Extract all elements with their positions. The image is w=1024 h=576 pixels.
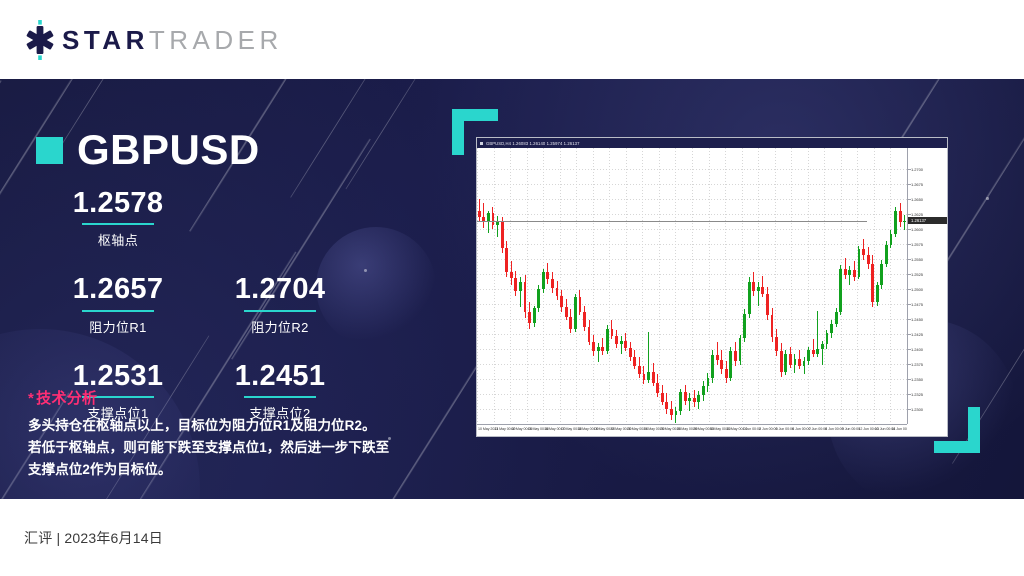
candlestick-body bbox=[514, 278, 517, 291]
price-axis-label: 1.2300 bbox=[911, 407, 923, 412]
date-axis-label: 5 Jun 00:00 bbox=[776, 427, 794, 431]
candlestick bbox=[734, 148, 737, 424]
candlestick-body bbox=[592, 342, 595, 352]
candlestick bbox=[748, 148, 751, 424]
page-title: GBPUSD bbox=[77, 129, 260, 171]
candlestick bbox=[684, 148, 687, 424]
candlestick bbox=[780, 148, 783, 424]
candlestick-wick bbox=[758, 282, 759, 306]
level-pivot-label: 枢轴点 bbox=[48, 230, 188, 249]
price-axis-tick bbox=[908, 229, 911, 230]
candlestick-body bbox=[816, 349, 819, 354]
candlestick bbox=[858, 148, 861, 424]
price-axis-label: 1.2350 bbox=[911, 377, 923, 382]
candlestick bbox=[679, 148, 682, 424]
candlestick bbox=[839, 148, 842, 424]
candlestick bbox=[803, 148, 806, 424]
candlestick-body bbox=[752, 282, 755, 292]
candlestick bbox=[743, 148, 746, 424]
candlestick bbox=[487, 148, 490, 424]
price-axis-label: 1.2650 bbox=[911, 197, 923, 202]
price-axis-label: 1.2425 bbox=[911, 332, 923, 337]
candlestick bbox=[556, 148, 559, 424]
candlestick bbox=[693, 148, 696, 424]
price-axis-tick bbox=[908, 409, 911, 410]
candlestick bbox=[656, 148, 659, 424]
candlestick-body bbox=[579, 297, 582, 311]
candlestick bbox=[478, 148, 481, 424]
chart-header-text: GBPUSD,H4 1.26083 1.26140 1.25974 1.2613… bbox=[486, 141, 580, 146]
price-axis-tick bbox=[908, 169, 911, 170]
date-axis-label: 8 Jun 00:00 bbox=[825, 427, 843, 431]
candlestick bbox=[867, 148, 870, 424]
candlestick bbox=[761, 148, 764, 424]
candlestick bbox=[565, 148, 568, 424]
candlestick bbox=[546, 148, 549, 424]
candlestick-body bbox=[826, 333, 829, 344]
candlestick-body bbox=[478, 211, 481, 217]
price-axis-tick bbox=[908, 184, 911, 185]
candlestick-body bbox=[533, 308, 536, 322]
level-pivot: 1.2578 枢轴点 bbox=[48, 187, 188, 249]
chart-symbol-icon bbox=[480, 142, 483, 145]
candlestick-body bbox=[684, 392, 687, 400]
candlestick-body bbox=[647, 372, 650, 380]
candlestick bbox=[620, 148, 623, 424]
candlestick-body bbox=[903, 221, 906, 222]
candlestick bbox=[524, 148, 527, 424]
candlestick-wick bbox=[497, 216, 498, 238]
candlestick-body bbox=[597, 347, 600, 352]
levels-row-pivot: 1.2578 枢轴点 bbox=[0, 187, 440, 249]
candlestick-body bbox=[633, 357, 636, 365]
candlestick-body bbox=[729, 351, 732, 377]
candlestick bbox=[812, 148, 815, 424]
candlestick bbox=[629, 148, 632, 424]
candlestick-body bbox=[867, 255, 870, 263]
price-chart[interactable]: GBPUSD,H4 1.26083 1.26140 1.25974 1.2613… bbox=[476, 137, 948, 437]
candlestick-body bbox=[775, 337, 778, 351]
candlestick bbox=[798, 148, 801, 424]
price-axis-tick bbox=[908, 394, 911, 395]
candlestick bbox=[720, 148, 723, 424]
candlestick-body bbox=[725, 369, 728, 377]
candlestick bbox=[482, 148, 485, 424]
candlestick bbox=[514, 148, 517, 424]
candlestick-body bbox=[844, 269, 847, 275]
candlestick-body bbox=[789, 354, 792, 365]
candlestick bbox=[505, 148, 508, 424]
row-spacer bbox=[0, 249, 440, 273]
candlestick bbox=[638, 148, 641, 424]
candlestick-body bbox=[537, 289, 540, 308]
asterisk-icon: * bbox=[28, 390, 34, 407]
date-axis-label: 1 Jun 00:00 bbox=[743, 427, 761, 431]
candlestick bbox=[880, 148, 883, 424]
candlestick-wick bbox=[904, 215, 905, 231]
candlestick-body bbox=[771, 315, 774, 337]
candlestick bbox=[542, 148, 545, 424]
candlestick bbox=[528, 148, 531, 424]
candlestick bbox=[633, 148, 636, 424]
candlestick-body bbox=[807, 350, 810, 361]
candlestick-body bbox=[542, 272, 545, 289]
candlestick bbox=[574, 148, 577, 424]
price-axis-tick bbox=[908, 334, 911, 335]
candlestick-body bbox=[761, 287, 764, 294]
candlestick bbox=[652, 148, 655, 424]
candlestick bbox=[551, 148, 554, 424]
candlestick bbox=[569, 148, 572, 424]
analysis-title-text: 技术分析 bbox=[36, 390, 97, 407]
price-axis-label: 1.2625 bbox=[911, 212, 923, 217]
candlestick-body bbox=[492, 213, 495, 225]
price-axis-tick bbox=[908, 349, 911, 350]
candlestick bbox=[665, 148, 668, 424]
price-axis-tick bbox=[908, 319, 911, 320]
candlestick bbox=[615, 148, 618, 424]
candlestick bbox=[702, 148, 705, 424]
candlestick bbox=[725, 148, 728, 424]
candlestick-body bbox=[894, 211, 897, 234]
candlestick bbox=[830, 148, 833, 424]
price-axis-tick bbox=[908, 259, 911, 260]
candlestick-body bbox=[739, 338, 742, 361]
candlestick bbox=[835, 148, 838, 424]
candlestick-body bbox=[665, 402, 668, 409]
candlestick-body bbox=[611, 329, 614, 336]
candlestick bbox=[675, 148, 678, 424]
candlestick bbox=[583, 148, 586, 424]
analysis-line-3: 支撑点位2作为目标位。 bbox=[28, 459, 428, 481]
candlestick-body bbox=[890, 234, 893, 245]
candlestick bbox=[647, 148, 650, 424]
candlestick bbox=[807, 148, 810, 424]
candlestick bbox=[588, 148, 591, 424]
candlestick-body bbox=[835, 312, 838, 324]
price-axis-label: 1.2575 bbox=[911, 242, 923, 247]
candlestick bbox=[729, 148, 732, 424]
candlestick-wick bbox=[813, 339, 814, 357]
candlestick bbox=[510, 148, 513, 424]
candlestick-body bbox=[794, 359, 797, 365]
candlestick-body bbox=[601, 347, 604, 352]
page-footer: 汇评 | 2023年6月14日 bbox=[0, 499, 1024, 576]
candlestick bbox=[794, 148, 797, 424]
candlestick bbox=[821, 148, 824, 424]
candlestick-body bbox=[880, 264, 883, 286]
candlestick-body bbox=[505, 248, 508, 272]
candlestick-body bbox=[675, 411, 678, 415]
candlestick-body bbox=[748, 282, 751, 314]
candlestick bbox=[890, 148, 893, 424]
price-axis: 1.26137 1.27001.26751.26501.26251.26001.… bbox=[907, 148, 947, 424]
candlestick bbox=[816, 148, 819, 424]
current-price-label: 1.26137 bbox=[908, 217, 948, 224]
candlestick-body bbox=[606, 329, 609, 352]
candlestick-body bbox=[551, 279, 554, 287]
level-underline bbox=[82, 223, 154, 225]
candlestick bbox=[601, 148, 604, 424]
price-axis-label: 1.2500 bbox=[911, 287, 923, 292]
candlestick bbox=[844, 148, 847, 424]
candlestick bbox=[519, 148, 522, 424]
candlestick bbox=[711, 148, 714, 424]
price-axis-label: 1.2325 bbox=[911, 392, 923, 397]
candlestick-body bbox=[528, 312, 531, 323]
levels-row-resistance: 1.2657 阻力位R1 1.2704 阻力位R2 bbox=[0, 273, 440, 335]
price-axis-label: 1.2700 bbox=[911, 167, 923, 172]
candlestick bbox=[643, 148, 646, 424]
candlestick bbox=[537, 148, 540, 424]
brand-logo[interactable]: STARTRADER bbox=[22, 20, 283, 60]
analysis-line-2: 若低于枢轴点，则可能下跌至支撑点位1，然后进一步下跌至 bbox=[28, 437, 428, 459]
price-axis-label: 1.2550 bbox=[911, 257, 923, 262]
price-axis-label: 1.2675 bbox=[911, 182, 923, 187]
candlestick-wick bbox=[675, 407, 676, 424]
candlestick-body bbox=[784, 354, 787, 372]
candlestick-body bbox=[839, 269, 842, 312]
candlestick bbox=[876, 148, 879, 424]
candlestick bbox=[707, 148, 710, 424]
price-axis-label: 1.2375 bbox=[911, 362, 923, 367]
price-axis-label: 1.2525 bbox=[911, 272, 923, 277]
candlestick-body bbox=[716, 355, 719, 360]
date-axis-label: 14 Jun 00:00 bbox=[891, 427, 907, 431]
candlestick-body bbox=[885, 245, 888, 264]
candlestick-body bbox=[858, 249, 861, 277]
date-axis-label: 9 Jun 00:00 bbox=[842, 427, 860, 431]
candlestick bbox=[766, 148, 769, 424]
candlestick-body bbox=[656, 383, 659, 394]
candlestick bbox=[533, 148, 536, 424]
candlestick bbox=[492, 148, 495, 424]
candlestick-body bbox=[766, 294, 769, 316]
star-asterisk-icon bbox=[22, 20, 58, 60]
candlestick-body bbox=[629, 348, 632, 358]
brand-name-bold: STAR bbox=[62, 25, 149, 55]
level-r1: 1.2657 阻力位R1 bbox=[48, 273, 188, 335]
candlestick bbox=[670, 148, 673, 424]
candlestick bbox=[597, 148, 600, 424]
candlestick-body bbox=[862, 249, 865, 255]
level-underline bbox=[244, 310, 316, 312]
candlestick-body bbox=[757, 287, 760, 292]
candlestick-body bbox=[720, 360, 723, 370]
candlestick-body bbox=[798, 359, 801, 366]
candlestick-body bbox=[702, 386, 705, 394]
price-axis-label: 1.2400 bbox=[911, 347, 923, 352]
candlestick-body bbox=[812, 350, 815, 354]
row-spacer bbox=[0, 336, 440, 360]
candlestick bbox=[789, 148, 792, 424]
candlestick bbox=[894, 148, 897, 424]
chart-header-bar: GBPUSD,H4 1.26083 1.26140 1.25974 1.2613… bbox=[477, 138, 947, 148]
candlestick bbox=[885, 148, 888, 424]
candlestick-body bbox=[876, 285, 879, 302]
candlestick-wick bbox=[621, 336, 622, 354]
brand-name-light: TRADER bbox=[149, 25, 283, 55]
candlestick-body bbox=[661, 393, 664, 401]
candlestick-body bbox=[780, 351, 783, 371]
chart-plot-area[interactable] bbox=[477, 148, 907, 424]
candlestick bbox=[775, 148, 778, 424]
candlestick-wick bbox=[483, 203, 484, 228]
date-axis: 10 May 202311 May 00:0012 May 00:0015 Ma… bbox=[477, 424, 907, 436]
candlestick bbox=[606, 148, 609, 424]
candlestick bbox=[496, 148, 499, 424]
candlestick-body bbox=[556, 288, 559, 296]
square-bullet-icon bbox=[36, 137, 63, 164]
candlestick bbox=[899, 148, 902, 424]
candlestick bbox=[611, 148, 614, 424]
candlestick-body bbox=[574, 297, 577, 328]
candlestick-body bbox=[643, 374, 646, 380]
candlestick-body bbox=[679, 392, 682, 411]
candlestick-body bbox=[707, 378, 710, 386]
price-axis-tick bbox=[908, 244, 911, 245]
candlestick bbox=[871, 148, 874, 424]
candlestick-body bbox=[734, 351, 737, 361]
candlestick bbox=[739, 148, 742, 424]
main-panel: GBPUSD 1.2578 枢轴点 1.2657 阻力位R1 1.2704 bbox=[0, 79, 1024, 499]
candlestick bbox=[624, 148, 627, 424]
candlestick-body bbox=[638, 366, 641, 374]
candlestick-body bbox=[711, 355, 714, 378]
date-axis-label: 7 Jun 00:00 bbox=[809, 427, 827, 431]
candlestick bbox=[826, 148, 829, 424]
candlestick-body bbox=[583, 312, 586, 328]
candlestick bbox=[853, 148, 856, 424]
candlestick-wick bbox=[717, 342, 718, 365]
candlestick-body bbox=[697, 395, 700, 402]
technical-analysis-block: *技术分析 多头持仓在枢轴点以上，目标位为阻力位R1及阻力位R2。 若低于枢轴点… bbox=[28, 387, 428, 481]
candlestick-body bbox=[588, 327, 591, 341]
candlestick bbox=[579, 148, 582, 424]
candlestick-body bbox=[688, 398, 691, 400]
candlestick-body bbox=[830, 324, 833, 334]
candlestick bbox=[501, 148, 504, 424]
candlestick-body bbox=[803, 361, 806, 366]
candlestick-body bbox=[821, 344, 824, 349]
candlestick-body bbox=[624, 341, 627, 348]
candlestick-series bbox=[477, 148, 907, 424]
level-r1-value: 1.2657 bbox=[48, 273, 188, 305]
candlestick-body bbox=[519, 282, 522, 292]
candlestick-body bbox=[693, 398, 696, 402]
candlestick-body bbox=[501, 221, 504, 249]
candlestick-body bbox=[615, 336, 618, 344]
candlestick bbox=[592, 148, 595, 424]
candlestick bbox=[560, 148, 563, 424]
price-axis-tick bbox=[908, 364, 911, 365]
candlestick-body bbox=[569, 317, 572, 329]
candlestick-body bbox=[670, 409, 673, 415]
pair-title-row: GBPUSD bbox=[36, 129, 260, 171]
level-r2: 1.2704 阻力位R2 bbox=[210, 273, 350, 335]
price-axis-tick bbox=[908, 214, 911, 215]
analysis-body: 多头持仓在枢轴点以上，目标位为阻力位R1及阻力位R2。 若低于枢轴点，则可能下跌… bbox=[28, 415, 428, 481]
candlestick bbox=[784, 148, 787, 424]
candlestick bbox=[757, 148, 760, 424]
candlestick bbox=[862, 148, 865, 424]
candlestick bbox=[903, 148, 906, 424]
price-axis-tick bbox=[908, 274, 911, 275]
price-axis-tick bbox=[908, 199, 911, 200]
candlestick bbox=[716, 148, 719, 424]
date-axis-label: 2 Jun 00:00 bbox=[759, 427, 777, 431]
candlestick bbox=[752, 148, 755, 424]
candlestick-body bbox=[899, 211, 902, 222]
level-underline bbox=[82, 310, 154, 312]
page-header: STARTRADER bbox=[0, 0, 1024, 79]
price-axis-label: 1.2475 bbox=[911, 302, 923, 307]
chart-block: GBPUSD,H4 1.26083 1.26140 1.25974 1.2613… bbox=[452, 109, 1012, 479]
candlestick bbox=[697, 148, 700, 424]
price-axis-tick bbox=[908, 304, 911, 305]
price-axis-tick bbox=[908, 379, 911, 380]
analysis-title: *技术分析 bbox=[28, 387, 428, 408]
candlestick-body bbox=[620, 341, 623, 345]
price-axis-label: 1.2450 bbox=[911, 317, 923, 322]
candlestick bbox=[771, 148, 774, 424]
footer-caption: 汇评 | 2023年6月14日 bbox=[24, 528, 163, 548]
candlestick-body bbox=[565, 307, 568, 317]
levels-column: GBPUSD 1.2578 枢轴点 1.2657 阻力位R1 1.2704 bbox=[0, 79, 440, 499]
candlestick-body bbox=[848, 270, 851, 275]
date-axis-label: 6 Jun 00:00 bbox=[792, 427, 810, 431]
analysis-line-1: 多头持仓在枢轴点以上，目标位为阻力位R1及阻力位R2。 bbox=[28, 415, 428, 437]
candlestick-body bbox=[510, 272, 513, 278]
candlestick-body bbox=[652, 372, 655, 383]
candlestick-body bbox=[524, 282, 527, 312]
candlestick bbox=[688, 148, 691, 424]
level-r2-label: 阻力位R2 bbox=[210, 317, 350, 336]
current-price-line bbox=[477, 221, 867, 222]
candlestick-body bbox=[743, 314, 746, 338]
candlestick-body bbox=[853, 270, 856, 277]
candlestick-wick bbox=[689, 393, 690, 411]
level-pivot-value: 1.2578 bbox=[48, 187, 188, 219]
level-r2-value: 1.2704 bbox=[210, 273, 350, 305]
price-axis-tick bbox=[908, 289, 911, 290]
level-r1-label: 阻力位R1 bbox=[48, 317, 188, 336]
candlestick-body bbox=[560, 296, 563, 307]
candlestick-body bbox=[871, 264, 874, 302]
candlestick bbox=[848, 148, 851, 424]
price-axis-label: 1.2600 bbox=[911, 227, 923, 232]
candlestick-body bbox=[546, 272, 549, 279]
candlestick bbox=[661, 148, 664, 424]
